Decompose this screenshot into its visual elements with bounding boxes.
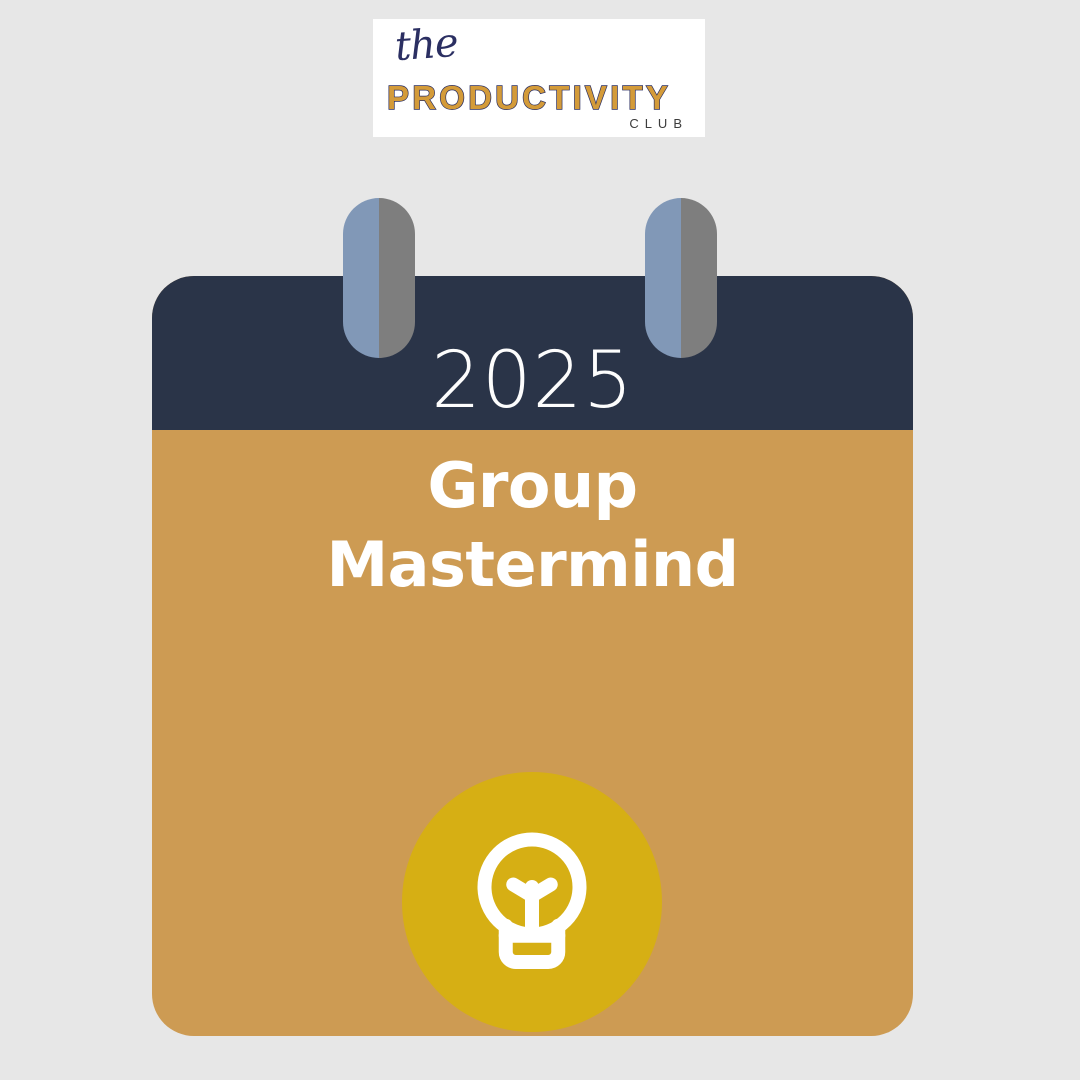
binder-ring-left-half — [645, 198, 681, 358]
calendar-body: Group Mastermind 8th Sept - 5th Oct — [152, 430, 913, 1036]
calendar-header: 2025 — [152, 276, 913, 430]
brand-main-word: PRODUCTIVITY — [387, 79, 671, 117]
calendar-card: 2025 Group Mastermind 8th Sept - 5th Oct — [152, 276, 913, 1036]
binder-ring-right-half — [681, 198, 717, 358]
binder-ring-left — [343, 198, 415, 358]
calendar-year: 2025 — [431, 286, 634, 420]
lightbulb-icon — [452, 822, 612, 982]
binder-ring-right — [645, 198, 717, 358]
binder-ring-left-half — [343, 198, 379, 358]
brand-logo-card: the PRODUCTIVITY CLUB — [373, 19, 705, 137]
brand-sub-word: CLUB — [629, 116, 688, 131]
event-title-line-1: Group — [152, 446, 913, 525]
lightbulb-icon-badge — [402, 772, 662, 1032]
event-title-line-2: Mastermind — [152, 525, 913, 604]
event-title: Group Mastermind — [152, 446, 913, 605]
brand-script-word: the — [394, 23, 459, 67]
binder-ring-right-half — [379, 198, 415, 358]
